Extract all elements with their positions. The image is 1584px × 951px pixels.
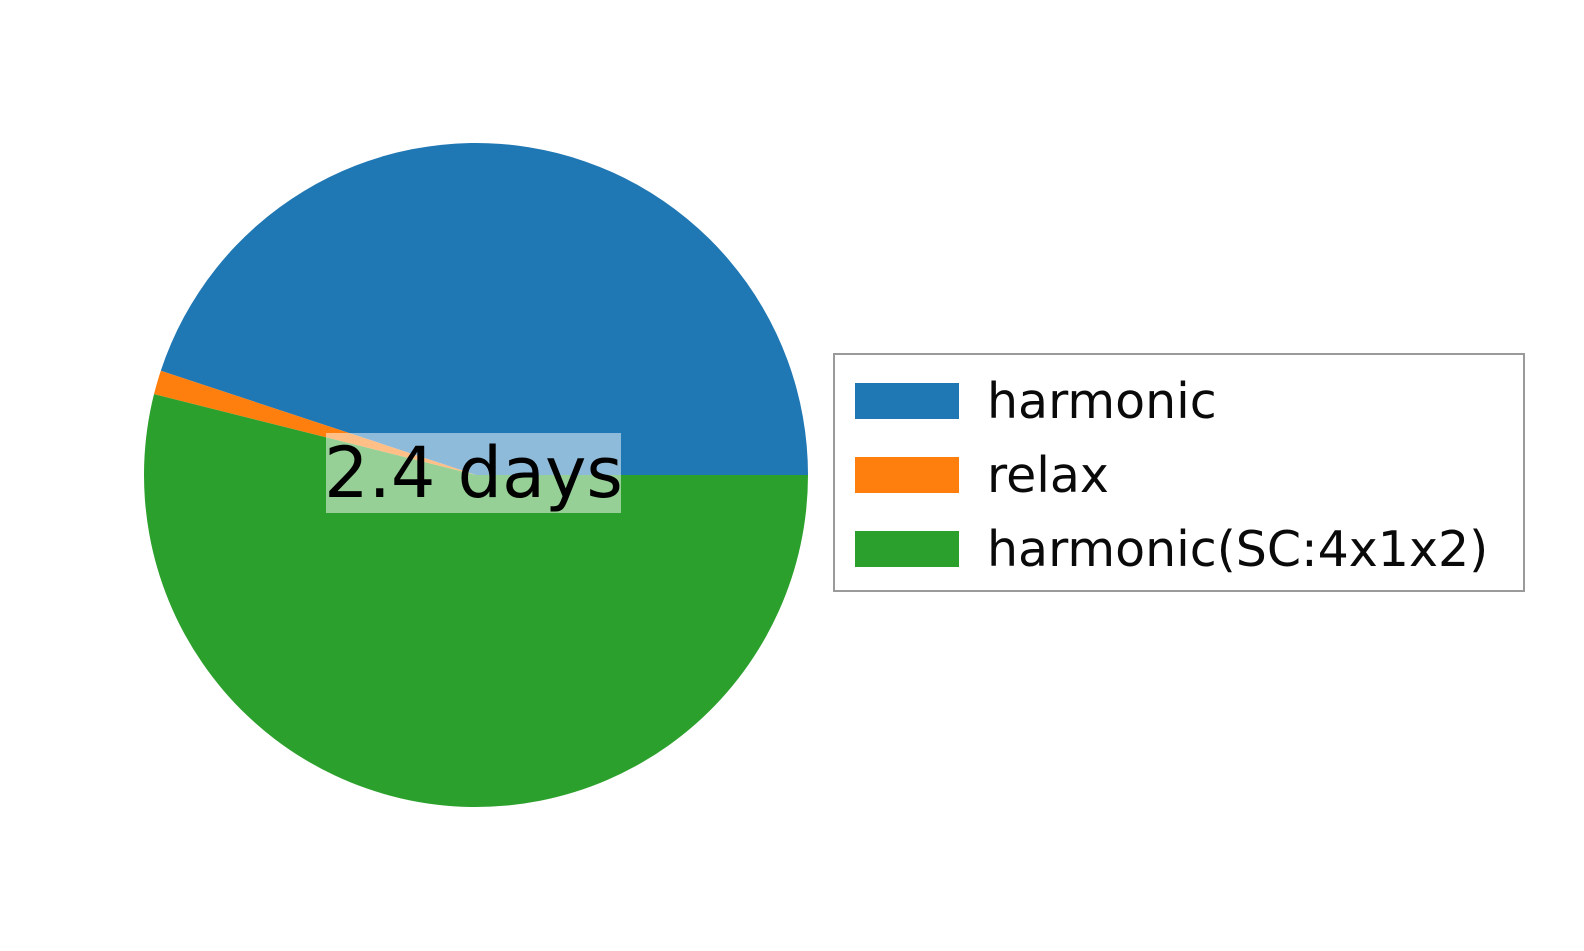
legend-swatch-harmonic-sc [855, 531, 959, 567]
pie-chart-figure: 2.4 days harmonic relax harmonic(SC:4x1x… [0, 0, 1584, 951]
legend-entry-harmonic[interactable]: harmonic [855, 364, 1217, 438]
legend-label-relax: relax [987, 451, 1109, 500]
pie-center-label: 2.4 days [326, 433, 621, 513]
legend-swatch-relax [855, 457, 959, 493]
legend-label-harmonic: harmonic [987, 377, 1217, 426]
legend-box: harmonic relax harmonic(SC:4x1x2) [833, 353, 1525, 592]
legend-entry-harmonic-sc[interactable]: harmonic(SC:4x1x2) [855, 512, 1488, 586]
legend-swatch-harmonic [855, 383, 959, 419]
legend-entry-relax[interactable]: relax [855, 438, 1109, 512]
pie-center-label-text: 2.4 days [324, 438, 623, 508]
legend-label-harmonic-sc: harmonic(SC:4x1x2) [987, 525, 1488, 574]
